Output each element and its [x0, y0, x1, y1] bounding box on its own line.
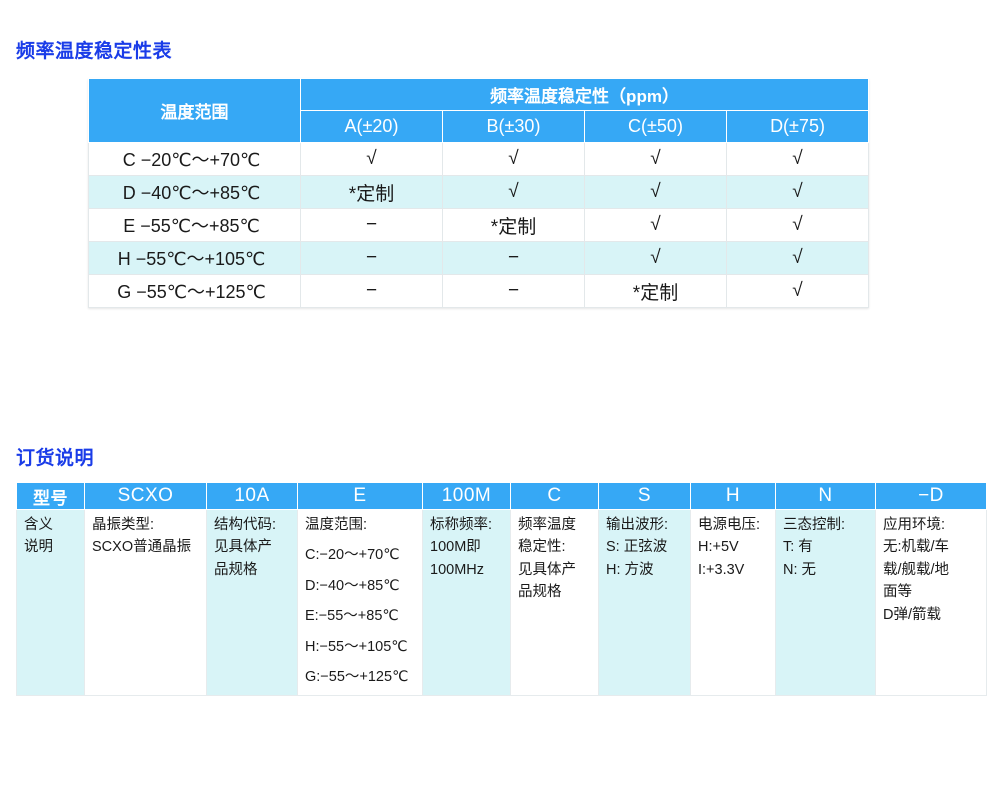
line: 无:机载/车: [883, 536, 981, 558]
cell-range: E −55℃～+85℃: [89, 209, 301, 242]
cell-grade-d: √: [727, 143, 869, 176]
cell-application-environment: 应用环境: 无:机载/车 载/舰载/地 面等 D弹/箭载: [876, 510, 987, 696]
cell-temperature-range: 温度范围: C:−20～+70℃ D:−40～+85℃ E:−55～+85℃ H…: [298, 510, 423, 696]
line: 品规格: [518, 581, 593, 603]
cell-range: C −20℃～+70℃: [89, 143, 301, 176]
frequency-temperature-stability-table: 温度范围 频率温度稳定性（ppm） A(±20) B(±30) C(±50) D…: [88, 78, 869, 308]
line: 温度范围:: [305, 514, 417, 536]
header-part-number: 型号: [17, 483, 85, 510]
line: C:−20～+70℃: [305, 544, 417, 566]
line: 稳定性:: [518, 536, 593, 558]
page-title-frequency-temperature: 频率温度稳定性表: [16, 36, 172, 63]
cell-crystal-type: 晶振类型: SCXO普通晶振: [85, 510, 207, 696]
cell-grade-b: *定制: [443, 209, 585, 242]
cell-range: H −55℃～+105℃: [89, 242, 301, 275]
header-temperature-range: 温度范围: [89, 79, 301, 143]
cell-grade-c: √: [585, 176, 727, 209]
header-stability: C: [511, 483, 599, 510]
cell-nominal-frequency: 标称频率: 100M即 100MHz: [423, 510, 511, 696]
header-crystal-type: SCXO: [85, 483, 207, 510]
line: 应用环境:: [883, 514, 981, 536]
cell-output-waveform: 输出波形: S: 正弦波 H: 方波: [599, 510, 691, 696]
header-stability-group: 频率温度稳定性（ppm）: [301, 79, 869, 111]
line: T: 有: [783, 536, 870, 558]
line: 载/舰载/地: [883, 559, 981, 581]
header-row-codes: 型号 SCXO 10A E 100M C S H N −D: [17, 483, 987, 510]
line: H:−55～+105℃: [305, 636, 417, 658]
line: H:+5V: [698, 536, 770, 558]
cell-grade-d: √: [727, 242, 869, 275]
header-temperature-range: E: [298, 483, 423, 510]
header-grade-b: B(±30): [443, 111, 585, 143]
table-row-descriptions: 含义 说明 晶振类型: SCXO普通晶振 结构代码: 见具体产 品规格 温度范围…: [17, 510, 987, 696]
page-title-ordering-information: 订货说明: [16, 443, 94, 470]
table-row: H −55℃～+105℃ − − √ √: [89, 242, 869, 275]
table-row: D −40℃～+85℃ *定制 √ √ √: [89, 176, 869, 209]
line: 面等: [883, 581, 981, 603]
line: 见具体产: [214, 536, 292, 558]
cell-grade-c: √: [585, 242, 727, 275]
cell-grade-d: √: [727, 176, 869, 209]
cell-grade-b: −: [443, 242, 585, 275]
cell-range: G −55℃～+125℃: [89, 275, 301, 308]
cell-grade-c: *定制: [585, 275, 727, 308]
line: 见具体产: [518, 559, 593, 581]
header-row-top: 温度范围 频率温度稳定性（ppm）: [89, 79, 869, 111]
cell-grade-b: √: [443, 176, 585, 209]
cell-grade-a: −: [301, 209, 443, 242]
header-output-waveform: S: [599, 483, 691, 510]
cell-stability: 频率温度 稳定性: 见具体产 品规格: [511, 510, 599, 696]
line: 说明: [24, 536, 79, 558]
cell-grade-b: −: [443, 275, 585, 308]
header-grade-a: A(±20): [301, 111, 443, 143]
cell-structure-code: 结构代码: 见具体产 品规格: [207, 510, 298, 696]
line: S: 正弦波: [606, 536, 685, 558]
table-row: G −55℃～+125℃ − − *定制 √: [89, 275, 869, 308]
cell-supply-voltage: 电源电压: H:+5V I:+3.3V: [691, 510, 776, 696]
header-supply-voltage: H: [691, 483, 776, 510]
line: 输出波形:: [606, 514, 685, 536]
line: 100MHz: [430, 559, 505, 581]
line: D:−40～+85℃: [305, 575, 417, 597]
table-body: 含义 说明 晶振类型: SCXO普通晶振 结构代码: 见具体产 品规格 温度范围…: [17, 510, 987, 696]
table-head: 型号 SCXO 10A E 100M C S H N −D: [17, 483, 987, 510]
cell-grade-c: √: [585, 143, 727, 176]
cell-grade-a: −: [301, 242, 443, 275]
line: D弹/箭载: [883, 604, 981, 626]
line: 标称频率:: [430, 514, 505, 536]
ordering-information-table: 型号 SCXO 10A E 100M C S H N −D 含义 说明 晶振类型…: [16, 482, 987, 696]
line: 频率温度: [518, 514, 593, 536]
table-head: 温度范围 频率温度稳定性（ppm） A(±20) B(±30) C(±50) D…: [89, 79, 869, 143]
cell-meaning-label: 含义 说明: [17, 510, 85, 696]
line: E:−55～+85℃: [305, 605, 417, 627]
line: I:+3.3V: [698, 559, 770, 581]
header-structure-code: 10A: [207, 483, 298, 510]
line: 三态控制:: [783, 514, 870, 536]
line: N: 无: [783, 559, 870, 581]
cell-grade-d: √: [727, 275, 869, 308]
table-body: C −20℃～+70℃ √ √ √ √ D −40℃～+85℃ *定制 √ √ …: [89, 143, 869, 308]
line: 结构代码:: [214, 514, 292, 536]
cell-range: D −40℃～+85℃: [89, 176, 301, 209]
cell-grade-a: *定制: [301, 176, 443, 209]
line: H: 方波: [606, 559, 685, 581]
cell-grade-a: √: [301, 143, 443, 176]
header-application-env: −D: [876, 483, 987, 510]
table-row: C −20℃～+70℃ √ √ √ √: [89, 143, 869, 176]
cell-grade-a: −: [301, 275, 443, 308]
line: 含义: [24, 514, 79, 536]
header-grade-c: C(±50): [585, 111, 727, 143]
line: 100M即: [430, 536, 505, 558]
line: 电源电压:: [698, 514, 770, 536]
cell-grade-d: √: [727, 209, 869, 242]
cell-tristate-control: 三态控制: T: 有 N: 无: [776, 510, 876, 696]
line: 晶振类型:: [92, 514, 201, 536]
cell-grade-c: √: [585, 209, 727, 242]
header-tristate-control: N: [776, 483, 876, 510]
line: G:−55～+125℃: [305, 666, 417, 688]
line: SCXO普通晶振: [92, 536, 201, 558]
table-row: E −55℃～+85℃ − *定制 √ √: [89, 209, 869, 242]
line: 品规格: [214, 559, 292, 581]
header-grade-d: D(±75): [727, 111, 869, 143]
header-nominal-frequency: 100M: [423, 483, 511, 510]
cell-grade-b: √: [443, 143, 585, 176]
